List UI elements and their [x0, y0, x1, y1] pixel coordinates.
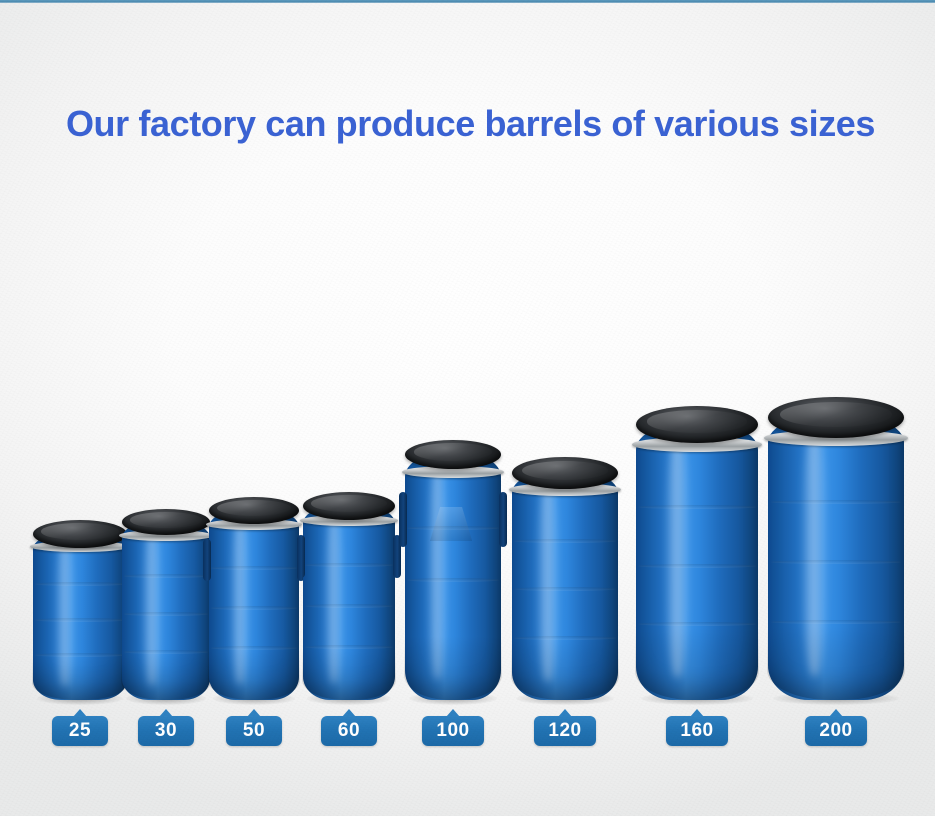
barrel-lid [512, 457, 618, 489]
barrel-rib [35, 618, 125, 622]
barrel-highlight [56, 539, 75, 687]
barrel-body [33, 532, 127, 700]
barrel-lid [405, 440, 501, 469]
barrel-highlight [325, 512, 343, 684]
barrel-rib [211, 606, 297, 610]
barrel-120l [512, 470, 618, 700]
top-border-rule [0, 0, 935, 3]
barrel-rib [305, 563, 393, 567]
barrel-body [122, 520, 210, 700]
barrel-rib [211, 646, 297, 650]
barrel-60l [303, 504, 395, 700]
barrel-highlight [665, 433, 689, 678]
barrel-160l [636, 422, 758, 700]
barrel-side-handle [499, 492, 507, 547]
barrel-side-handle [203, 539, 211, 581]
barrel-rib [771, 500, 902, 504]
barrel-rib [35, 582, 125, 586]
barrel-highlight [231, 516, 249, 685]
barrel-side-handle [297, 535, 305, 578]
barrel-body [405, 452, 501, 700]
barrel-body [209, 508, 299, 700]
capacity-badge-25l[interactable]: 25 [52, 716, 108, 746]
barrel-rib [514, 539, 616, 543]
barrel-rib [305, 645, 393, 649]
barrel-embossed-plate [430, 507, 472, 541]
barrel-ribs [768, 414, 904, 700]
barrel-rib [514, 636, 616, 640]
barrel-25l [33, 532, 127, 700]
barrel-rib [35, 653, 125, 657]
barrel-body [512, 470, 618, 700]
barrel-rib [407, 578, 499, 582]
barrel-50l [209, 508, 299, 700]
barrel-rib [514, 587, 616, 591]
barrel-rib [638, 505, 755, 509]
capacity-badge-120l[interactable]: 120 [534, 716, 596, 746]
barrel-lid [209, 497, 299, 524]
barrel-side-handle [399, 492, 407, 547]
capacity-badge-100l[interactable]: 100 [422, 716, 484, 746]
capacity-badge-50l[interactable]: 50 [226, 716, 282, 746]
barrel-30l [122, 520, 210, 700]
product-size-chart: Our factory can produce barrels of vario… [0, 0, 935, 816]
barrel-highlight [801, 425, 828, 677]
barrel-lid [33, 520, 127, 548]
barrel-lid [303, 492, 395, 520]
capacity-badge-60l[interactable]: 60 [321, 716, 377, 746]
barrel-ribs [303, 504, 395, 700]
barrel-ribs [512, 470, 618, 700]
capacity-badge-200l[interactable]: 200 [805, 716, 867, 746]
barrel-highlight [143, 527, 161, 685]
barrel-ribs [636, 422, 758, 700]
barrel-lid [636, 406, 758, 443]
barrel-lid [768, 397, 904, 438]
barrel-100l [405, 452, 501, 700]
barrel-ribs [122, 520, 210, 700]
barrel-rib [124, 650, 208, 654]
barrel-rib [771, 620, 902, 624]
barrel-rib [124, 574, 208, 578]
barrel-ribs [33, 532, 127, 700]
barrel-body [768, 414, 904, 700]
barrel-rib [638, 564, 755, 568]
capacity-badge-30l[interactable]: 30 [138, 716, 194, 746]
barrel-rib [771, 560, 902, 564]
barrel-rib [638, 622, 755, 626]
page-title: Our factory can produce barrels of vario… [18, 103, 923, 145]
barrel-body [303, 504, 395, 700]
barrel-lid [122, 509, 210, 535]
barrel-rib [124, 612, 208, 616]
barrel-200l [768, 414, 904, 700]
barrel-highlight [428, 462, 447, 680]
barrel-ribs [209, 508, 299, 700]
barrel-rib [211, 566, 297, 570]
barrel-body [636, 422, 758, 700]
barrel-highlight [537, 479, 558, 681]
capacity-badge-160l[interactable]: 160 [666, 716, 728, 746]
barrel-rib [305, 604, 393, 608]
barrel-ribs [405, 452, 501, 700]
